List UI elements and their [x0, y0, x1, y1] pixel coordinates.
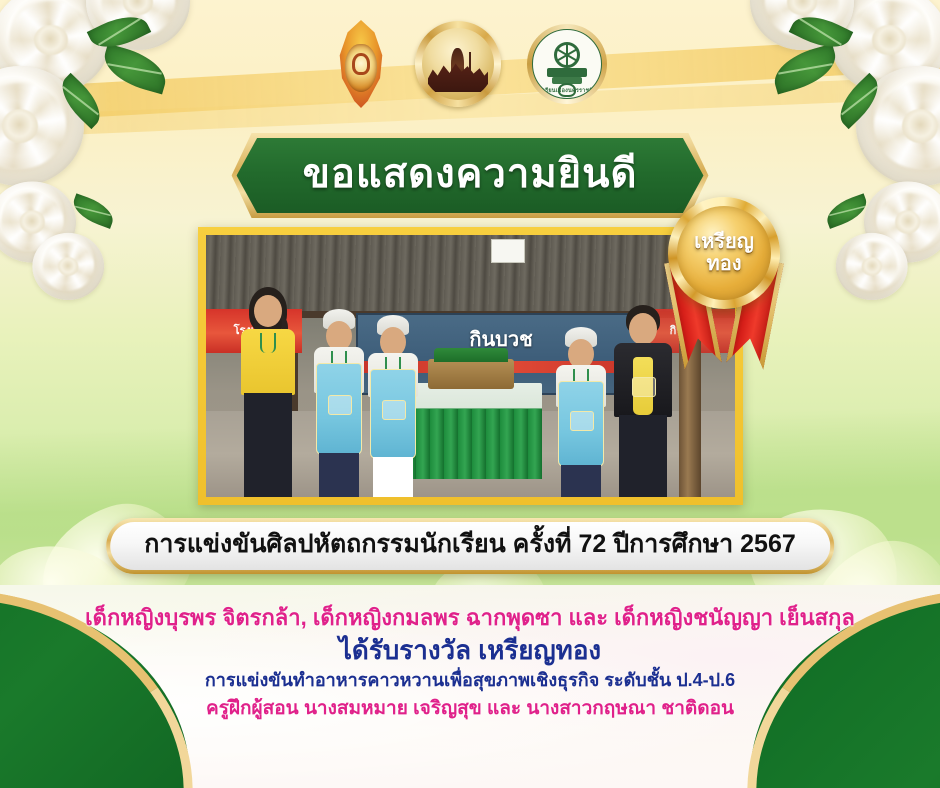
award-received: ได้รับรางวัล เหรียญทอง: [0, 635, 940, 667]
photo-person-teacher-left: [236, 285, 300, 497]
congratulations-text: ขอแสดงความยินดี: [303, 154, 638, 194]
competition-title-bar: การแข่งขันศิลปหัตถกรรมนักเรียน ครั้งที่ …: [106, 518, 834, 574]
rose-leaf: [823, 193, 872, 228]
photo-person-student-1: [310, 301, 368, 497]
photo-display-table: [402, 383, 542, 479]
photo-food-display: [428, 359, 514, 389]
congratulations-poster: โรงเรียนเมืองนครราชสีมา ขอแสดงความยินดี …: [0, 0, 940, 788]
school-seal-icon: โรงเรียนเมืองนครราชสีมา: [527, 24, 607, 104]
rose-cluster-mid-right: [788, 174, 940, 342]
rose-flower: [32, 233, 104, 300]
rose-cluster-mid-left: [0, 174, 153, 342]
student-names: เด็กหญิงบุรพร จิตรกล้า, เด็กหญิงกมลพร ฉา…: [0, 605, 940, 632]
school-seal-label: โรงเรียนเมืองนครราชสีมา: [533, 87, 601, 95]
gold-medal-badge: เหรียญ ทอง: [660, 197, 788, 387]
rose-flower: [864, 181, 940, 262]
rose-leaf: [69, 193, 118, 228]
photo-person-student-3: [552, 305, 610, 497]
medal-disc-icon: เหรียญ ทอง: [668, 197, 780, 309]
competition-category: การแข่งขันทำอาหารคาวหวานเพื่อสุขภาพเชิงธ…: [0, 670, 940, 692]
competition-title-text: การแข่งขันศิลปหัตถกรรมนักเรียน ครั้งที่ …: [144, 531, 796, 559]
award-details: เด็กหญิงบุรพร จิตรกล้า, เด็กหญิงกมลพร ฉา…: [0, 605, 940, 720]
photo-wall-sign: [491, 239, 525, 263]
congratulations-banner: ขอแสดงความยินดี: [232, 133, 709, 218]
logo-row: โรงเรียนเมืองนครราชสีมา: [0, 20, 940, 108]
medal-label-line2: ทอง: [707, 254, 742, 275]
rose-flower: [836, 233, 908, 300]
photo-person-student-2: [364, 301, 422, 497]
obec-emblem-icon: [333, 20, 389, 108]
rose-flower: [0, 181, 76, 262]
thao-suranaree-seal-icon: [415, 21, 501, 107]
event-photo: โรงเรียน กินบวช กินบวช: [206, 235, 735, 497]
coach-teachers: ครูฝึกผู้สอน นางสมหมาย เจริญสุข และ นางส…: [0, 697, 940, 720]
medal-label-line1: เหรียญ: [694, 232, 754, 253]
